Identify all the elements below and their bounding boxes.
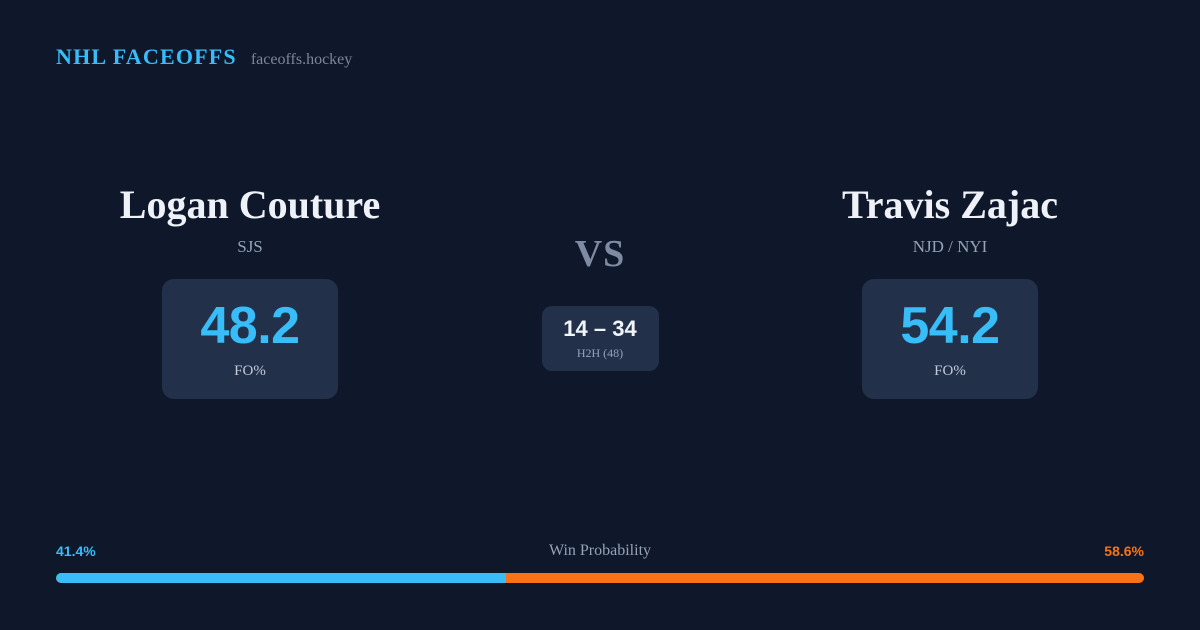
share-card: NHL FACEOFFS faceoffs.hockey Logan Coutu…: [0, 0, 1200, 630]
player-right-stat-label: FO%: [934, 364, 966, 379]
brand-title: NHL FACEOFFS: [56, 46, 237, 68]
player-right-stat-card: 54.2 FO%: [862, 279, 1038, 399]
player-right-faceoff-pct: 54.2: [900, 300, 999, 352]
head-to-head-card: 14 – 34 H2H (48): [542, 306, 659, 371]
player-left-team: SJS: [237, 238, 263, 255]
matchup-center: VS 14 – 34 H2H (48): [475, 180, 725, 371]
win-probability-bar: [56, 573, 1144, 583]
player-left-stat-label: FO%: [234, 364, 266, 379]
win-probability-left-value: 41.4%: [56, 544, 96, 558]
win-probability-right-value: 58.6%: [1104, 544, 1144, 558]
matchup-section: Logan Couture SJS 48.2 FO% VS 14 – 34 H2…: [0, 180, 1200, 399]
vs-label: VS: [575, 235, 626, 273]
player-right-team: NJD / NYI: [913, 238, 988, 255]
win-probability-bar-left-fill: [56, 573, 506, 583]
site-header: NHL FACEOFFS faceoffs.hockey: [56, 46, 352, 68]
head-to-head-label: H2H (48): [577, 347, 623, 359]
player-left: Logan Couture SJS 48.2 FO%: [25, 180, 475, 399]
player-left-name: Logan Couture: [120, 180, 380, 230]
win-probability-title: Win Probability: [549, 543, 651, 559]
win-probability-section: 41.4% Win Probability 58.6%: [56, 540, 1144, 583]
site-domain: faceoffs.hockey: [251, 52, 352, 68]
win-probability-labels: 41.4% Win Probability 58.6%: [56, 540, 1144, 562]
player-right: Travis Zajac NJD / NYI 54.2 FO%: [725, 180, 1175, 399]
player-left-faceoff-pct: 48.2: [200, 300, 299, 352]
player-left-stat-card: 48.2 FO%: [162, 279, 338, 399]
head-to-head-record: 14 – 34: [563, 318, 636, 340]
player-right-name: Travis Zajac: [842, 180, 1058, 230]
